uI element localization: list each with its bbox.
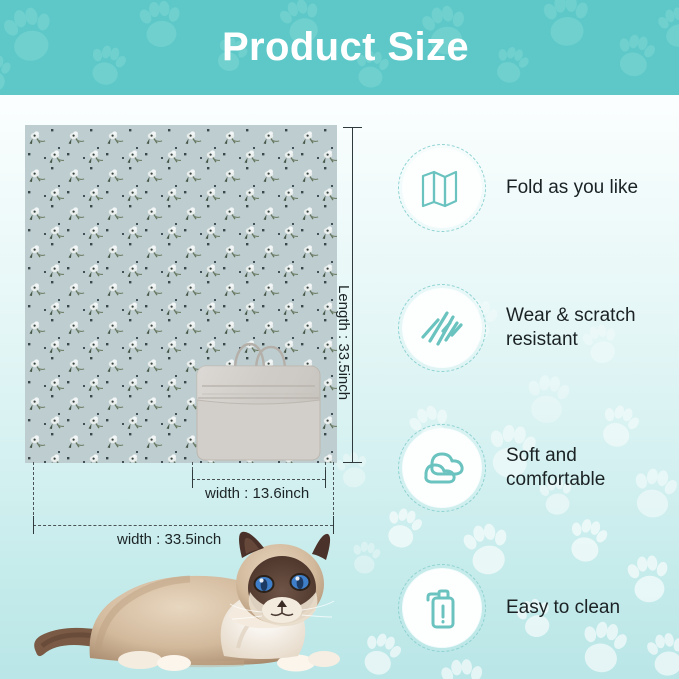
laptop-sleeve [192, 338, 325, 463]
feature-item-clean[interactable]: Easy to clean [396, 558, 679, 658]
feature-badge [396, 282, 488, 374]
width-folded-line [192, 479, 325, 480]
cloud-icon [403, 429, 481, 507]
feature-label: Easy to clean [506, 596, 620, 620]
header-banner: Product Size [0, 0, 679, 95]
ragdoll-cat-photo [28, 530, 358, 679]
feature-badge [396, 142, 488, 234]
width-full-line [33, 525, 333, 526]
width-folded-tick-right [325, 470, 326, 488]
feature-label: Fold as you like [506, 176, 638, 200]
width-folded-tick-left [192, 470, 193, 488]
feature-label: Wear & scratch resistant [506, 304, 678, 352]
length-measure-line [352, 127, 353, 463]
feature-list: Fold as you like [396, 130, 679, 670]
page-title: Product Size [0, 0, 679, 95]
feature-item-soft[interactable]: Soft and comfortable [396, 418, 679, 518]
feature-label: Soft and comfortable [506, 444, 678, 492]
feature-item-fold[interactable]: Fold as you like [396, 138, 679, 238]
feature-item-scratch[interactable]: Wear & scratch resistant [396, 278, 679, 378]
feature-badge [396, 422, 488, 514]
folded-map-icon [403, 149, 481, 227]
feature-badge [396, 562, 488, 654]
length-tick-bottom [343, 462, 362, 463]
length-label: Length : 33.5inch [335, 285, 352, 400]
spray-bottle-icon [403, 569, 481, 647]
scratch-lines-icon [403, 289, 481, 367]
product-size-infographic: Product Size [0, 0, 679, 679]
width-folded-label: width : 13.6inch [205, 485, 309, 502]
